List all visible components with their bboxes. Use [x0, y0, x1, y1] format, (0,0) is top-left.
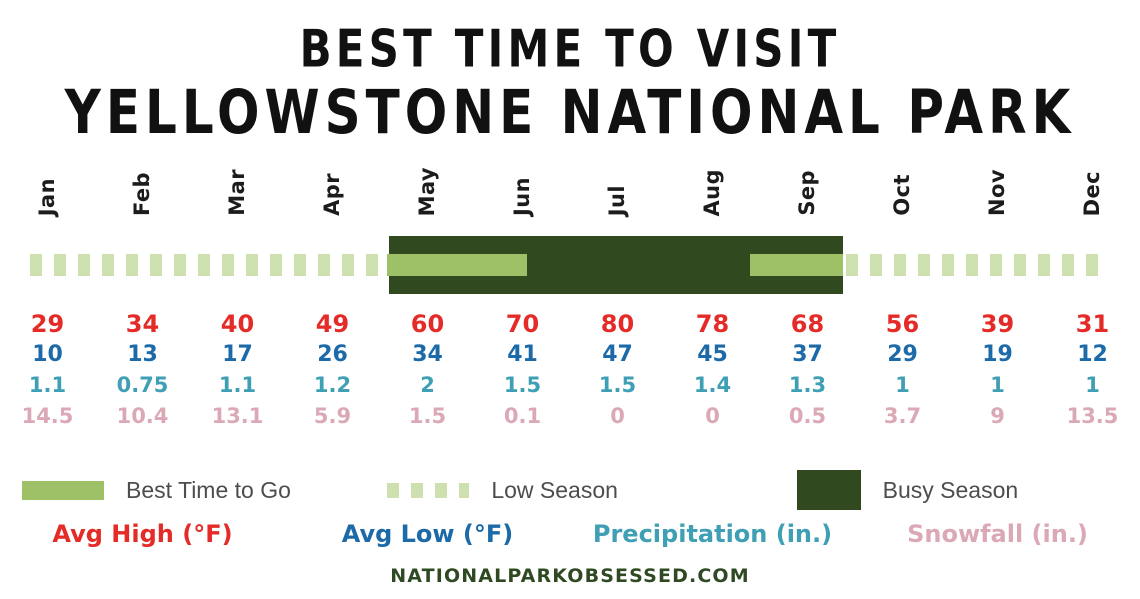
data-cell-precipitation-jun: 1.5 [475, 375, 570, 396]
data-cell-precipitation-dec: 1 [1045, 375, 1140, 396]
data-cell-precipitation-oct: 1 [855, 375, 950, 396]
data-cell-avg-high-feb: 34 [95, 312, 190, 336]
month-label: Mar [227, 169, 248, 216]
month-label: Feb [132, 172, 153, 216]
series-key-precipitation: Precipitation (in.) [570, 522, 855, 546]
data-cell-avg-low-jul: 47 [570, 344, 665, 366]
month-label: Apr [322, 173, 343, 216]
month-label: Sep [797, 170, 818, 216]
data-cell-avg-low-sep: 37 [760, 344, 855, 366]
data-row-avg-high: 293440496070807868563931 [0, 308, 1140, 339]
month-column-jul: Jul [570, 148, 665, 216]
data-cell-precipitation-jan: 1.1 [0, 375, 95, 396]
legend-item-busy-season: Busy Season [731, 470, 1140, 510]
page-title-line-1: BEST TIME TO VISIT [0, 24, 1140, 75]
data-cell-avg-low-may: 34 [380, 344, 475, 366]
month-label: Aug [702, 169, 723, 217]
low-season-swatch-icon [387, 483, 469, 498]
data-cell-avg-high-sep: 68 [760, 312, 855, 336]
data-cell-snowfall-may: 1.5 [380, 406, 475, 427]
data-cell-snowfall-aug: 0 [665, 406, 760, 427]
data-cell-avg-high-nov: 39 [950, 312, 1045, 336]
busy-season-swatch-icon [797, 470, 861, 510]
data-cell-snowfall-jan: 14.5 [0, 406, 95, 427]
data-cell-avg-low-mar: 17 [190, 344, 285, 366]
data-cell-avg-high-aug: 78 [665, 312, 760, 336]
series-key-avg-high: Avg High (°F) [0, 522, 285, 546]
month-column-dec: Dec [1045, 148, 1140, 216]
data-cell-snowfall-dec: 13.5 [1045, 406, 1140, 427]
month-column-mar: Mar [190, 148, 285, 216]
data-cell-avg-high-may: 60 [380, 312, 475, 336]
data-cell-avg-low-oct: 29 [855, 344, 950, 366]
data-cell-avg-low-jan: 10 [0, 344, 95, 366]
data-cell-avg-low-apr: 26 [285, 344, 380, 366]
data-cell-snowfall-mar: 13.1 [190, 406, 285, 427]
legend-row: Best Time to Go Low Season Busy Season [0, 470, 1140, 510]
data-table: 2934404960708078685639311013172634414745… [0, 308, 1140, 432]
data-cell-precipitation-may: 2 [380, 375, 475, 396]
data-cell-snowfall-nov: 9 [950, 406, 1045, 427]
data-cell-snowfall-jul: 0 [570, 406, 665, 427]
month-label: Oct [892, 174, 913, 216]
month-column-sep: Sep [760, 148, 855, 216]
data-row-precipitation: 1.10.751.11.221.51.51.41.3111 [0, 370, 1140, 401]
legend-label-best-time: Best Time to Go [126, 477, 291, 504]
month-column-oct: Oct [855, 148, 950, 216]
series-key-row: Avg High (°F) Avg Low (°F) Precipitation… [0, 514, 1140, 554]
data-cell-snowfall-apr: 5.9 [285, 406, 380, 427]
series-key-snowfall: Snowfall (in.) [855, 522, 1140, 546]
data-cell-precipitation-aug: 1.4 [665, 375, 760, 396]
data-cell-precipitation-nov: 1 [950, 375, 1045, 396]
data-row-snowfall: 14.510.413.15.91.50.1000.53.7913.5 [0, 401, 1140, 432]
month-column-apr: Apr [285, 148, 380, 216]
legend-item-low-season: Low Season [365, 477, 730, 504]
title-block: BEST TIME TO VISIT YELLOWSTONE NATIONAL … [0, 0, 1140, 132]
legend-label-low-season: Low Season [491, 477, 618, 504]
data-cell-avg-high-oct: 56 [855, 312, 950, 336]
series-key-avg-low: Avg Low (°F) [285, 522, 570, 546]
data-cell-avg-high-dec: 31 [1045, 312, 1140, 336]
data-cell-avg-low-dec: 12 [1045, 344, 1140, 366]
data-cell-avg-high-jan: 29 [0, 312, 95, 336]
month-label: Nov [987, 169, 1008, 216]
data-row-avg-low: 101317263441474537291912 [0, 339, 1140, 370]
data-cell-precipitation-jul: 1.5 [570, 375, 665, 396]
month-label: Jun [512, 177, 533, 216]
month-column-jun: Jun [475, 148, 570, 216]
month-column-nov: Nov [950, 148, 1045, 216]
month-label: Jan [37, 178, 58, 216]
data-cell-avg-low-jun: 41 [475, 344, 570, 366]
month-column-aug: Aug [665, 148, 760, 216]
footer-website-text: NATIONALPARKOBSESSED.COM [390, 565, 750, 587]
data-cell-precipitation-apr: 1.2 [285, 375, 380, 396]
best-time-swatch-icon [22, 481, 104, 500]
data-cell-avg-low-aug: 45 [665, 344, 760, 366]
data-cell-avg-low-feb: 13 [95, 344, 190, 366]
data-cell-avg-high-apr: 49 [285, 312, 380, 336]
data-cell-snowfall-jun: 0.1 [475, 406, 570, 427]
data-cell-avg-high-jun: 70 [475, 312, 570, 336]
data-cell-snowfall-feb: 10.4 [95, 406, 190, 427]
month-label: Dec [1082, 171, 1103, 216]
month-label: Jul [607, 185, 628, 216]
data-cell-avg-high-jul: 80 [570, 312, 665, 336]
legend-item-best-time: Best Time to Go [0, 477, 365, 504]
month-column-may: May [380, 148, 475, 216]
month-column-feb: Feb [95, 148, 190, 216]
month-column-jan: Jan [0, 148, 95, 216]
data-cell-snowfall-sep: 0.5 [760, 406, 855, 427]
page-title-line-2: YELLOWSTONE NATIONAL PARK [0, 82, 1140, 143]
data-cell-snowfall-oct: 3.7 [855, 406, 950, 427]
month-header-row: JanFebMarAprMayJunJulAugSepOctNovDec [0, 148, 1140, 216]
season-band [0, 236, 1140, 294]
best-time-bar-spring [387, 254, 527, 276]
data-cell-avg-low-nov: 19 [950, 344, 1045, 366]
data-cell-precipitation-sep: 1.3 [760, 375, 855, 396]
data-cell-avg-high-mar: 40 [190, 312, 285, 336]
best-time-bar-fall [750, 254, 843, 276]
footer: NATIONALPARKOBSESSED.COM [0, 565, 1140, 587]
infographic-root: BEST TIME TO VISIT YELLOWSTONE NATIONAL … [0, 0, 1140, 599]
month-label: May [417, 167, 438, 216]
legend-label-busy-season: Busy Season [883, 477, 1019, 504]
data-cell-precipitation-feb: 0.75 [95, 375, 190, 396]
data-cell-precipitation-mar: 1.1 [190, 375, 285, 396]
